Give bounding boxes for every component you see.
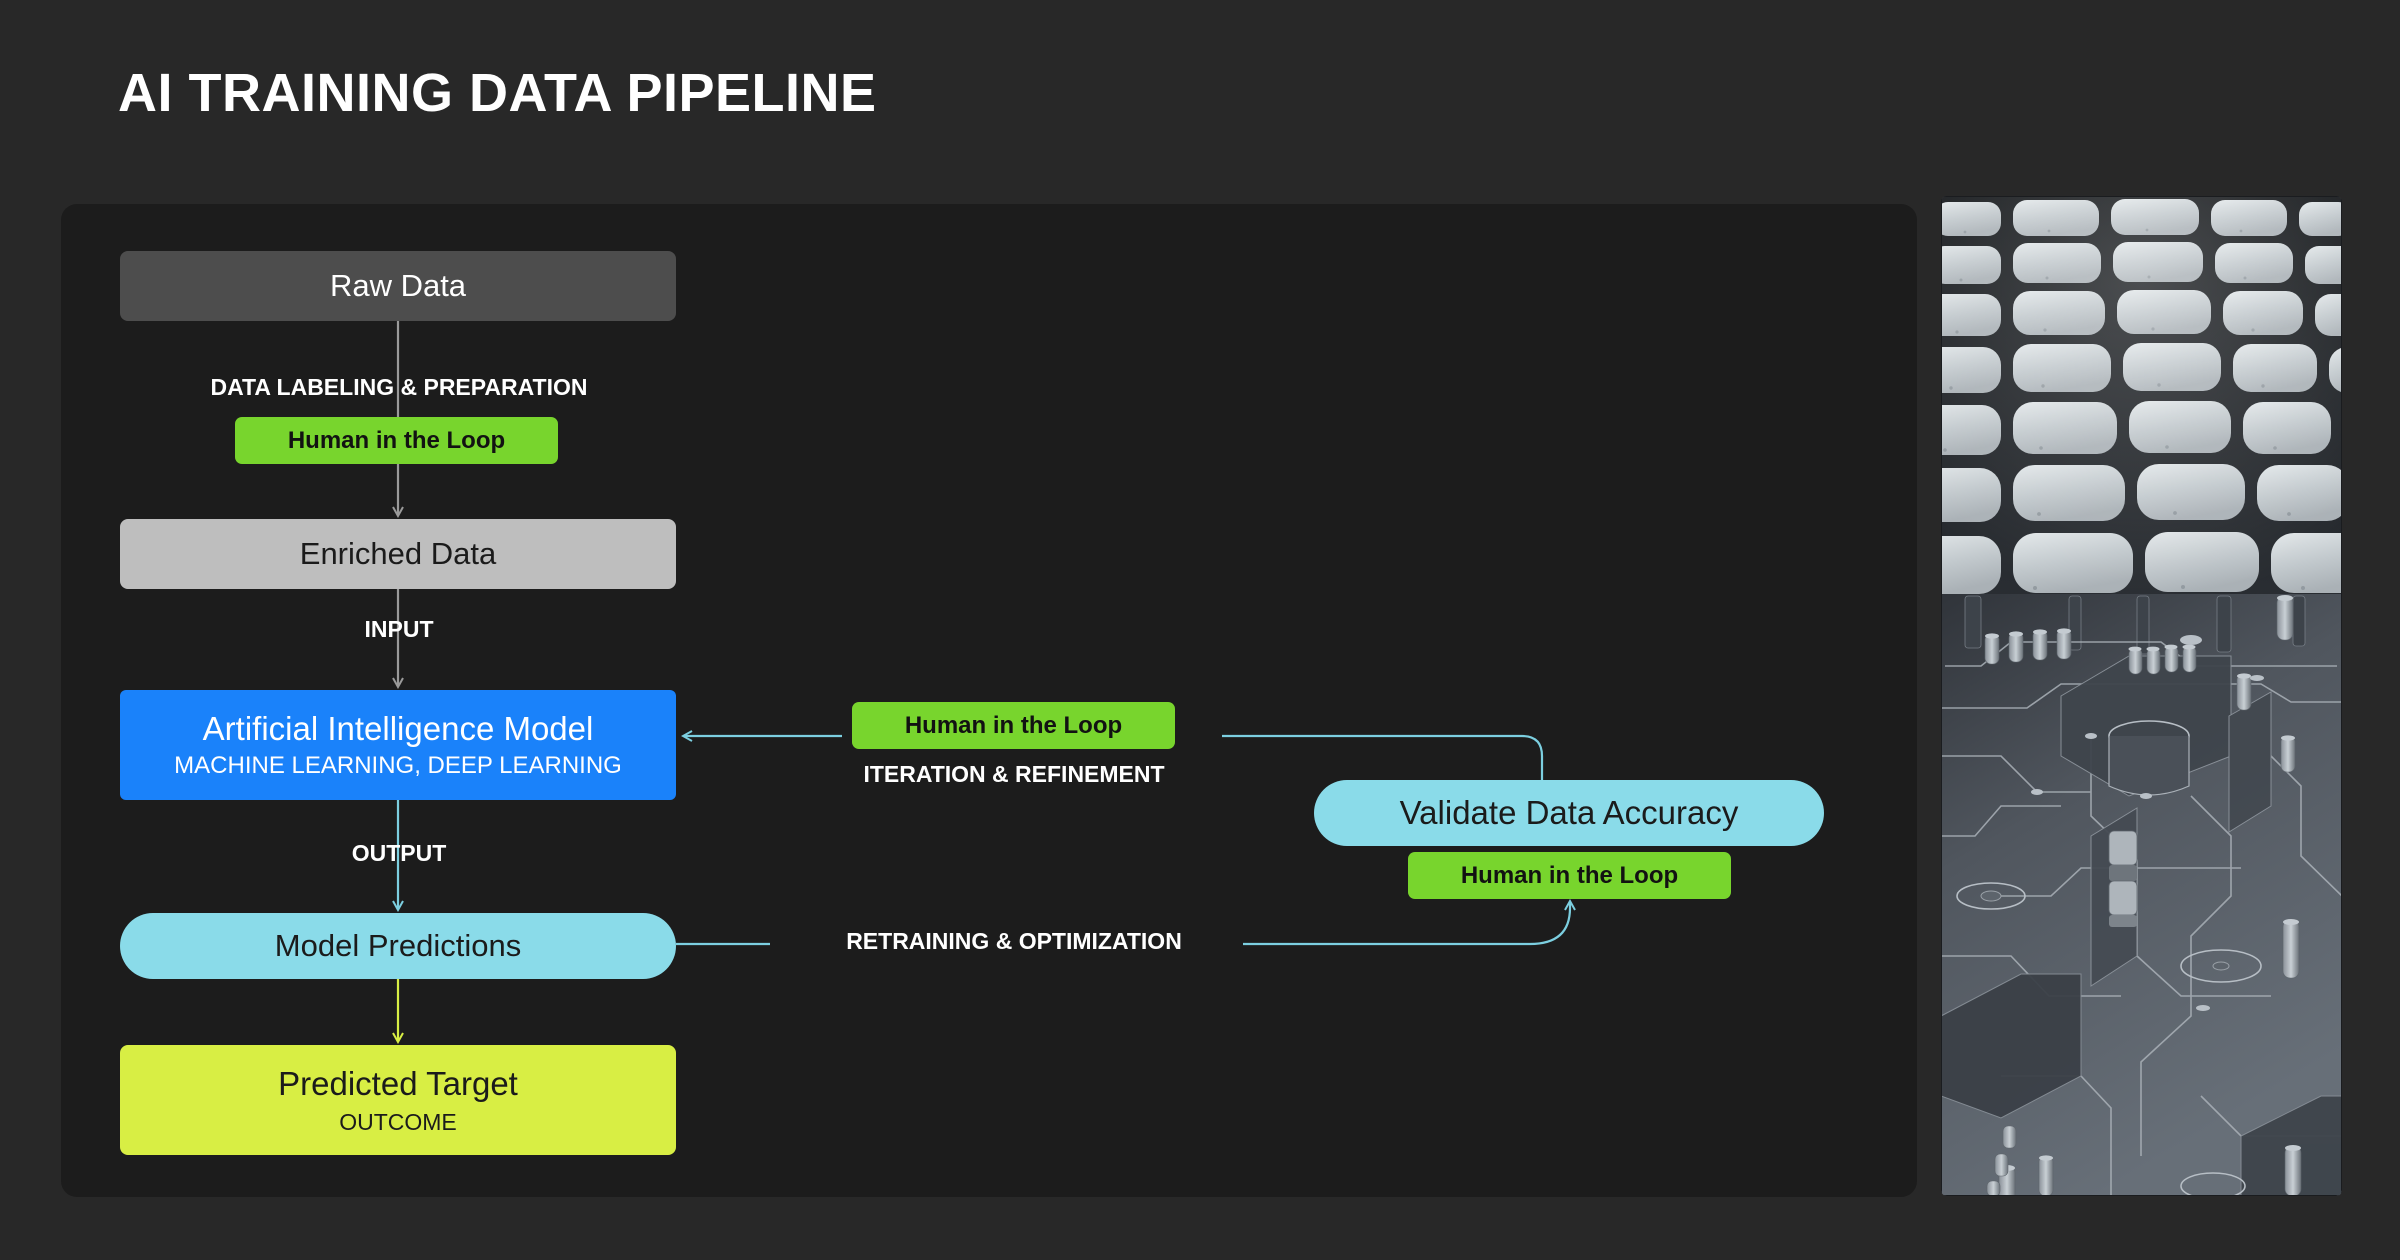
node-validate-data-accuracy-title: Validate Data Accuracy: [1400, 794, 1739, 832]
node-predicted-target[interactable]: Predicted Target OUTCOME: [120, 1045, 676, 1155]
node-enriched-data-title: Enriched Data: [300, 536, 496, 572]
node-validate-data-accuracy[interactable]: Validate Data Accuracy: [1314, 780, 1824, 846]
node-raw-data-title: Raw Data: [330, 268, 466, 304]
badge-label: Human in the Loop: [1461, 862, 1678, 890]
page-root: AI TRAINING DATA PIPELINE: [0, 0, 2400, 1260]
edge-label-iteration-refinement: ITERATION & REFINEMENT: [780, 761, 1248, 788]
node-ai-model[interactable]: Artificial Intelligence Model MACHINE LE…: [120, 690, 676, 800]
badge-human-in-the-loop-retraining[interactable]: Human in the Loop: [1408, 852, 1731, 899]
badge-label: Human in the Loop: [288, 427, 505, 455]
badge-human-in-the-loop-iteration[interactable]: Human in the Loop: [852, 702, 1175, 749]
badge-label: Human in the Loop: [905, 712, 1122, 740]
edge-label-output: OUTPUT: [185, 840, 613, 867]
circuit-board-image: [1941, 196, 2342, 1196]
edge-label-input: INPUT: [185, 616, 613, 643]
edge-label-retraining-optimization: RETRAINING & OPTIMIZATION: [780, 928, 1248, 955]
node-raw-data[interactable]: Raw Data: [120, 251, 676, 321]
badge-human-in-the-loop-preparation[interactable]: Human in the Loop: [235, 417, 558, 464]
node-predicted-target-title: Predicted Target: [278, 1065, 518, 1103]
edge-label-data-labeling-preparation: DATA LABELING & PREPARATION: [185, 374, 613, 401]
node-ai-model-title: Artificial Intelligence Model: [203, 710, 594, 748]
node-predicted-target-subtitle: OUTCOME: [339, 1109, 457, 1135]
node-enriched-data[interactable]: Enriched Data: [120, 519, 676, 589]
page-title: AI TRAINING DATA PIPELINE: [118, 62, 877, 124]
node-ai-model-subtitle: MACHINE LEARNING, DEEP LEARNING: [174, 752, 622, 780]
node-model-predictions-title: Model Predictions: [275, 928, 521, 964]
node-model-predictions[interactable]: Model Predictions: [120, 913, 676, 979]
